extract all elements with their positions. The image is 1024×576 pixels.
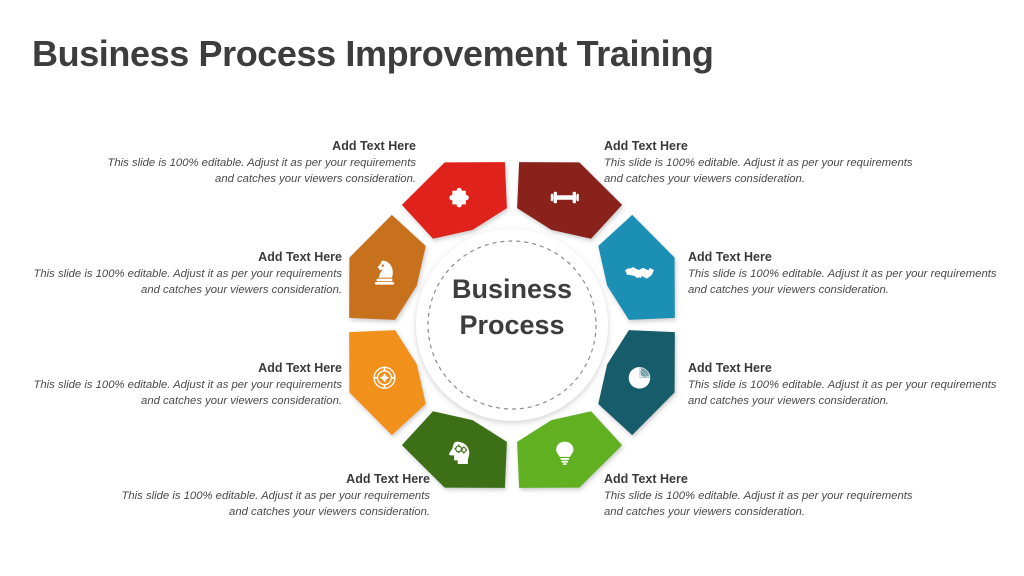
callout-1: Add Text Here This slide is 100% editabl…: [96, 139, 416, 187]
callout-4-body: This slide is 100% editable. Adjust it a…: [688, 377, 1008, 409]
callout-5: Add Text Here This slide is 100% editabl…: [604, 472, 924, 520]
callout-6-body: This slide is 100% editable. Adjust it a…: [110, 488, 430, 520]
wheel-segment-6[interactable]: [349, 330, 426, 435]
page-title: Business Process Improvement Training: [32, 33, 713, 75]
center-circle: [416, 229, 608, 421]
wheel-segment-2[interactable]: [598, 215, 675, 320]
callout-8-body: This slide is 100% editable. Adjust it a…: [22, 266, 342, 298]
pie-chart-icon: [629, 367, 651, 389]
callout-5-heading: Add Text Here: [604, 472, 924, 486]
callout-7-heading: Add Text Here: [22, 361, 342, 375]
callout-8: Add Text Here This slide is 100% editabl…: [22, 250, 342, 298]
callout-3-heading: Add Text Here: [688, 250, 1008, 264]
wheel-segment-6-shape[interactable]: [349, 330, 426, 435]
callout-6-heading: Add Text Here: [110, 472, 430, 486]
callout-7-body: This slide is 100% editable. Adjust it a…: [22, 377, 342, 409]
callout-4: Add Text Here This slide is 100% editabl…: [688, 361, 1008, 409]
process-wheel-diagram: [332, 160, 692, 490]
callout-2-body: This slide is 100% editable. Adjust it a…: [604, 155, 924, 187]
callout-7: Add Text Here This slide is 100% editabl…: [22, 361, 342, 409]
target-compass-icon: [374, 367, 395, 388]
callout-4-heading: Add Text Here: [688, 361, 1008, 375]
wheel-segment-2-shape[interactable]: [598, 215, 675, 320]
callout-8-heading: Add Text Here: [22, 250, 342, 264]
callout-3: Add Text Here This slide is 100% editabl…: [688, 250, 1008, 298]
slide-canvas: Business Process Improvement Training: [0, 0, 1024, 576]
callout-1-heading: Add Text Here: [96, 139, 416, 153]
callout-3-body: This slide is 100% editable. Adjust it a…: [688, 266, 1008, 298]
callout-2: Add Text Here This slide is 100% editabl…: [604, 139, 924, 187]
callout-6: Add Text Here This slide is 100% editabl…: [110, 472, 430, 520]
callout-1-body: This slide is 100% editable. Adjust it a…: [96, 155, 416, 187]
callout-5-body: This slide is 100% editable. Adjust it a…: [604, 488, 924, 520]
wheel-svg: [332, 160, 692, 490]
callout-2-heading: Add Text Here: [604, 139, 924, 153]
